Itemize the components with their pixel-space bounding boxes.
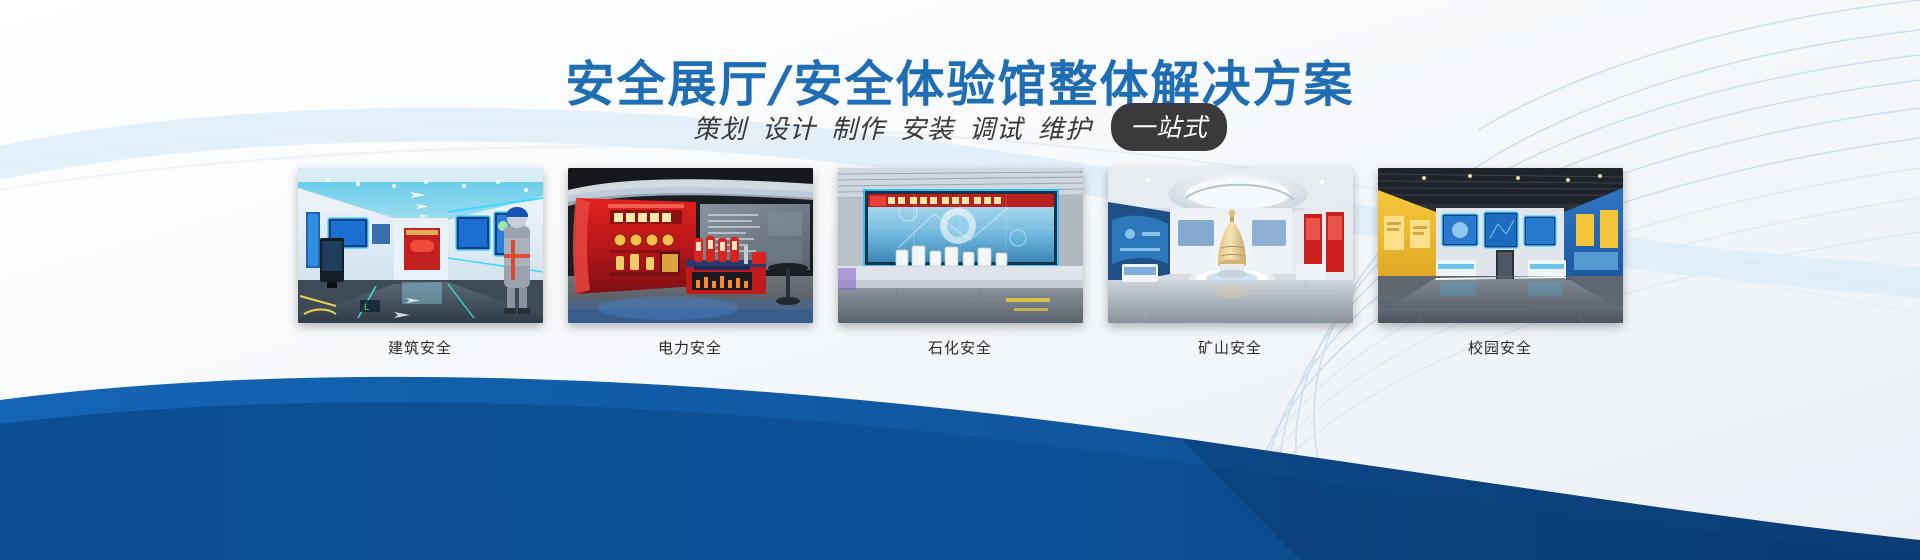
exhibition-card-mining[interactable]: 矿山安全 <box>1108 168 1353 358</box>
scene-bell-rotunda-hall <box>1108 168 1353 323</box>
thumbnail-petrochemical-safety[interactable] <box>838 168 1083 323</box>
service-word-debugging: 调试 <box>969 109 1023 146</box>
card-caption: 校园安全 <box>1468 337 1532 358</box>
thumbnail-construction-safety[interactable]: L <box>298 168 543 323</box>
card-caption: 建筑安全 <box>388 337 452 358</box>
safety-exhibition-banner: 安全展厅/安全体验馆整体解决方案 策划 设计 制作 安装 调试 维护 一站式 <box>0 0 1920 560</box>
scene-yellow-blue-corridor <box>1378 168 1623 323</box>
service-word-installation: 安装 <box>900 109 954 146</box>
card-caption: 石化安全 <box>928 337 992 358</box>
exhibition-card-campus[interactable]: 校园安全 <box>1378 168 1623 358</box>
scene-blue-exhibition-corridor: L <box>298 168 543 323</box>
svg-text:L: L <box>364 303 369 313</box>
subtitle-container: 策划 设计 制作 安装 调试 维护 一站式 <box>0 103 1920 151</box>
exhibition-card-list: L <box>0 168 1920 358</box>
service-word-design: 设计 <box>762 109 816 146</box>
card-caption: 矿山安全 <box>1198 337 1262 358</box>
service-word-list: 策划 设计 制作 安装 调试 维护 一站式 <box>693 103 1227 151</box>
thumbnail-campus-safety[interactable] <box>1378 168 1623 323</box>
exhibition-card-power[interactable]: 电力安全 <box>568 168 813 358</box>
one-stop-badge: 一站式 <box>1111 103 1227 151</box>
thumbnail-mining-safety[interactable] <box>1108 168 1353 323</box>
scene-red-fire-equipment-hall <box>568 168 813 323</box>
scene-led-video-wall-hall <box>838 168 1083 323</box>
card-caption: 电力安全 <box>658 337 722 358</box>
thumbnail-power-safety[interactable] <box>568 168 813 323</box>
service-word-maintenance: 维护 <box>1038 109 1092 146</box>
exhibition-card-construction[interactable]: L <box>298 168 543 358</box>
exhibition-card-petrochemical[interactable]: 石化安全 <box>838 168 1083 358</box>
service-word-planning: 策划 <box>693 109 747 146</box>
service-word-production: 制作 <box>831 109 885 146</box>
